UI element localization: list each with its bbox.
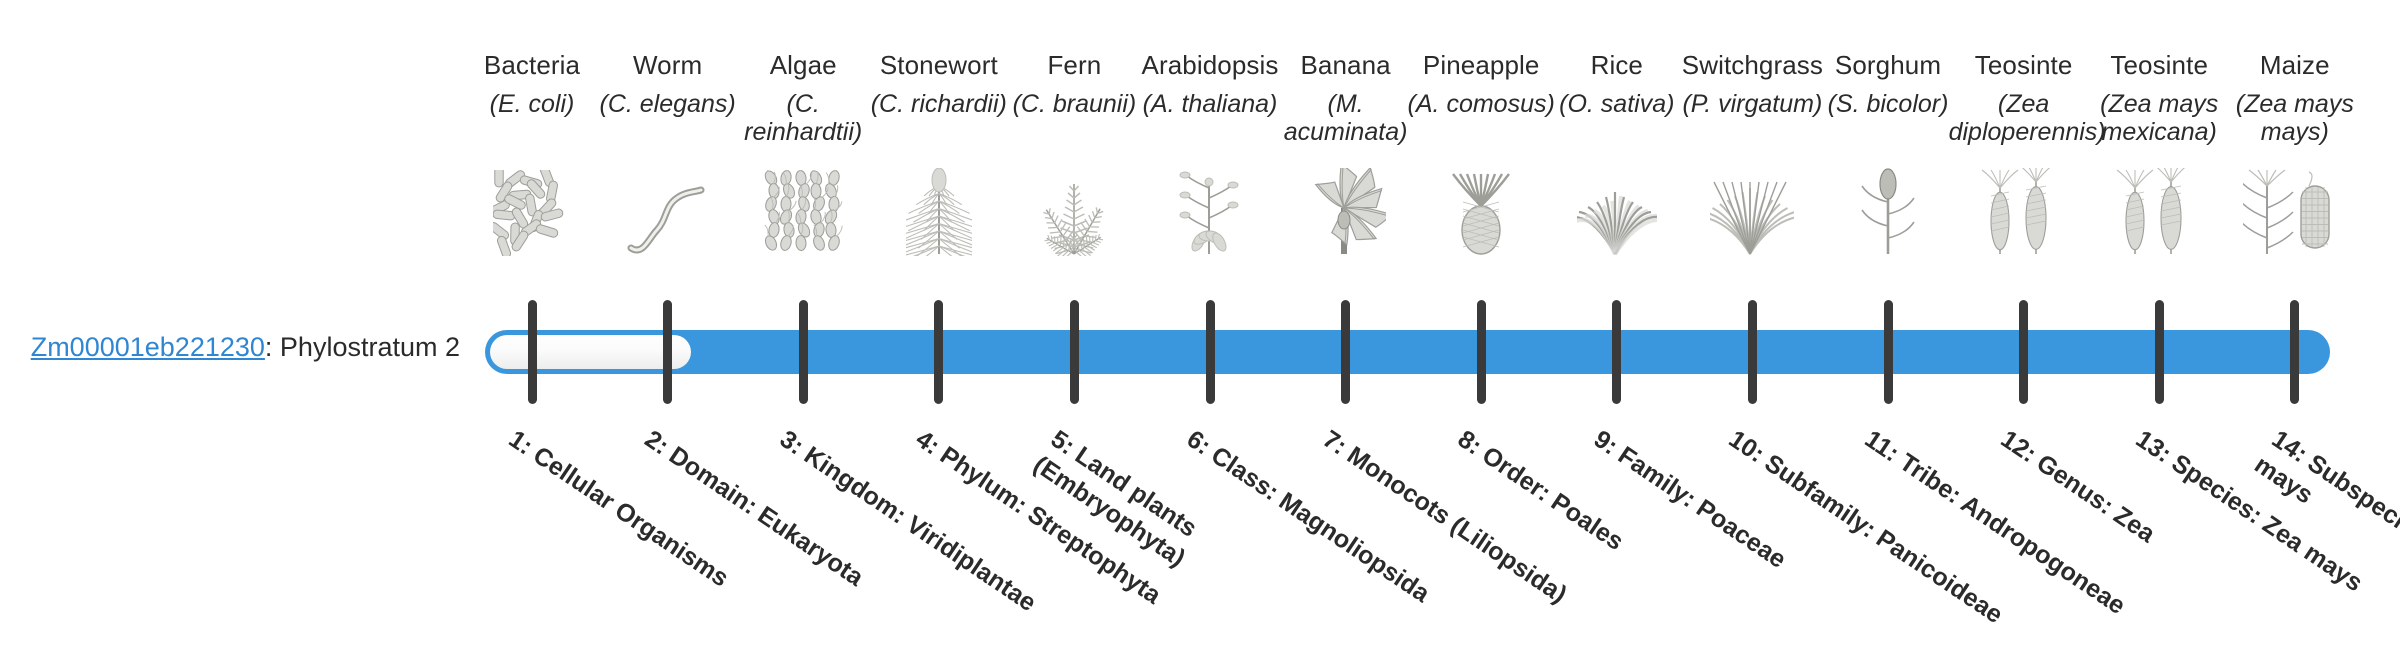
- fern-icon: [1018, 168, 1130, 256]
- phylostratum-tick[interactable]: [1884, 300, 1893, 404]
- species-scientific-name: (A. thaliana): [1135, 90, 1285, 118]
- maize-icon: [2239, 168, 2351, 256]
- phylostratum-tick[interactable]: [2019, 300, 2028, 404]
- worm-icon: [612, 168, 724, 256]
- species-common-name: Switchgrass: [1677, 52, 1827, 79]
- phylostratum-tick[interactable]: [934, 300, 943, 404]
- gene-label-separator: :: [265, 332, 280, 362]
- bacteria-icon: [476, 168, 588, 256]
- gene-id-link[interactable]: Zm00001eb221230: [31, 332, 265, 362]
- species-scientific-name: (C. elegans): [593, 90, 743, 118]
- species-column-header: Worm(C. elegans): [593, 52, 743, 118]
- phylostratum-tick[interactable]: [1612, 300, 1621, 404]
- species-common-name: Teosinte: [2084, 52, 2234, 79]
- algae-icon: [747, 168, 859, 256]
- sorghum-icon: [1832, 168, 1944, 256]
- species-scientific-name: (C. braunii): [999, 90, 1149, 118]
- species-scientific-name: (O. sativa): [1542, 90, 1692, 118]
- teosinte-diplo-icon: [1968, 168, 2080, 256]
- species-common-name: Algae: [728, 52, 878, 79]
- phylostratum-bar-fill: [485, 330, 2330, 374]
- phylostratum-tick[interactable]: [2155, 300, 2164, 404]
- species-common-name: Bacteria: [457, 52, 607, 79]
- switchgrass-icon: [1696, 168, 1808, 256]
- species-scientific-name: (C. reinhardtii): [728, 90, 878, 146]
- species-scientific-name: (P. virgatum): [1677, 90, 1827, 118]
- banana-icon: [1290, 168, 1402, 256]
- phylostratum-tick[interactable]: [1477, 300, 1486, 404]
- teosinte-mex-icon: [2103, 168, 2215, 256]
- phylostratum-tick[interactable]: [1206, 300, 1215, 404]
- species-scientific-name: (S. bicolor): [1813, 90, 1963, 118]
- species-scientific-name: (Zea mays mexicana): [2084, 90, 2234, 146]
- species-column-header: Banana(M. acuminata): [1271, 52, 1421, 146]
- species-scientific-name: (M. acuminata): [1271, 90, 1421, 146]
- species-common-name: Banana: [1271, 52, 1421, 79]
- phylostratum-bar-unfilled-segment: [490, 335, 691, 369]
- species-column-header: Switchgrass(P. virgatum): [1677, 52, 1827, 118]
- pineapple-icon: [1425, 168, 1537, 256]
- species-column-header: Arabidopsis(A. thaliana): [1135, 52, 1285, 118]
- species-column-header: Bacteria(E. coli): [457, 52, 607, 118]
- species-common-name: Pineapple: [1406, 52, 1556, 79]
- arabidopsis-icon: [1154, 168, 1266, 256]
- rice-icon: [1561, 168, 1673, 256]
- gene-row-label: Zm00001eb221230: Phylostratum 2: [0, 332, 460, 363]
- species-scientific-name: (E. coli): [457, 90, 607, 118]
- species-column-header: Pineapple(A. comosus): [1406, 52, 1556, 118]
- species-scientific-name: (C. richardii): [864, 90, 1014, 118]
- phylostratum-tick[interactable]: [1341, 300, 1350, 404]
- species-scientific-name: (Zea mays mays): [2220, 90, 2370, 146]
- species-common-name: Teosinte: [1949, 52, 2099, 79]
- species-common-name: Fern: [999, 52, 1149, 79]
- species-scientific-name: (Zea diploperennis): [1949, 90, 2099, 146]
- species-column-header: Rice(O. sativa): [1542, 52, 1692, 118]
- species-column-header: Fern(C. braunii): [999, 52, 1149, 118]
- species-column-header: Maize(Zea mays mays): [2220, 52, 2370, 146]
- phylostratum-value: Phylostratum 2: [280, 332, 460, 362]
- phylostratum-bar[interactable]: [485, 330, 2330, 374]
- species-column-header: Sorghum(S. bicolor): [1813, 52, 1963, 118]
- phylostratum-tick[interactable]: [663, 300, 672, 404]
- phylostratum-tick[interactable]: [799, 300, 808, 404]
- phylostratum-tick[interactable]: [1748, 300, 1757, 404]
- phylostratum-tick[interactable]: [2290, 300, 2299, 404]
- species-common-name: Maize: [2220, 52, 2370, 79]
- species-column-header: Algae(C. reinhardtii): [728, 52, 878, 146]
- stonewort-icon: [883, 168, 995, 256]
- species-column-header: Stonewort(C. richardii): [864, 52, 1014, 118]
- species-column-header: Teosinte(Zea diploperennis): [1949, 52, 2099, 146]
- species-common-name: Stonewort: [864, 52, 1014, 79]
- species-common-name: Rice: [1542, 52, 1692, 79]
- phylostratum-tick[interactable]: [1070, 300, 1079, 404]
- species-common-name: Sorghum: [1813, 52, 1963, 79]
- species-column-header: Teosinte(Zea mays mexicana): [2084, 52, 2234, 146]
- phylostratum-tick[interactable]: [528, 300, 537, 404]
- species-common-name: Arabidopsis: [1135, 52, 1285, 79]
- phylostratigraphy-figure: Zm00001eb221230: Phylostratum 2 Bacteria…: [0, 0, 2400, 580]
- species-common-name: Worm: [593, 52, 743, 79]
- species-scientific-name: (A. comosus): [1406, 90, 1556, 118]
